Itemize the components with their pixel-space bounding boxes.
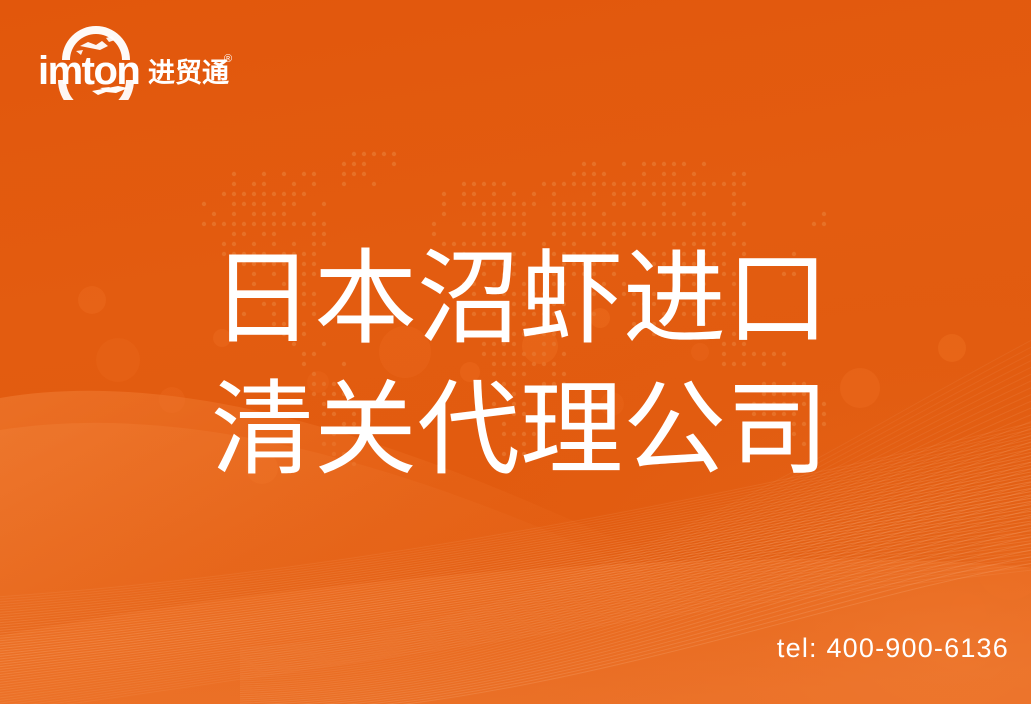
fan-line — [240, 546, 1031, 704]
fan-line — [0, 545, 1031, 698]
fan-line — [240, 497, 1031, 699]
fan-line — [0, 541, 1031, 695]
fan-line — [240, 490, 1031, 697]
fan-line — [240, 525, 1031, 704]
registered-trademark-icon: ® — [224, 53, 232, 65]
headline: 日本沼虾进口 清关代理公司 — [211, 233, 851, 495]
fan-line — [240, 532, 1031, 704]
fan-line — [0, 485, 1031, 651]
fan-line — [0, 538, 1031, 692]
fan-line — [0, 535, 1031, 690]
fan-line — [0, 471, 1031, 640]
headline-line-2: 清关代理公司 — [211, 364, 851, 495]
fan-line — [240, 518, 1031, 704]
fan-line — [0, 475, 1031, 643]
fan-line — [0, 558, 1031, 704]
fan-line — [240, 553, 1031, 704]
bokeh-circle — [976, 532, 1031, 600]
promo-banner: imton 进贸通 ® 日本沼虾进口 清关代理公司 tel: 400-900-6… — [0, 0, 1031, 704]
fan-line — [0, 478, 1031, 645]
fan-line — [240, 539, 1031, 704]
fan-line — [240, 511, 1031, 703]
headline-line-1: 日本沼虾进口 — [211, 233, 851, 364]
brand-logo[interactable]: imton 进贸通 ® — [36, 28, 236, 100]
fan-line — [0, 488, 1031, 653]
fan-line — [0, 555, 1031, 704]
bokeh-circle — [950, 594, 986, 630]
logo-wordmark-latin: imton — [38, 49, 139, 93]
logo-wordmark-chinese: 进贸通 — [148, 58, 229, 88]
fan-line — [0, 491, 1031, 655]
fan-line — [0, 481, 1031, 648]
bokeh-circle — [96, 338, 140, 382]
fan-line — [240, 504, 1031, 701]
fan-line — [0, 551, 1031, 703]
logo-mark: imton 进贸通 ® — [36, 24, 236, 100]
bokeh-circle — [78, 286, 106, 314]
bokeh-circle — [938, 334, 966, 362]
contact-telephone: tel: 400-900-6136 — [777, 633, 1009, 664]
fan-line — [240, 560, 1031, 704]
fan-line — [0, 548, 1031, 700]
